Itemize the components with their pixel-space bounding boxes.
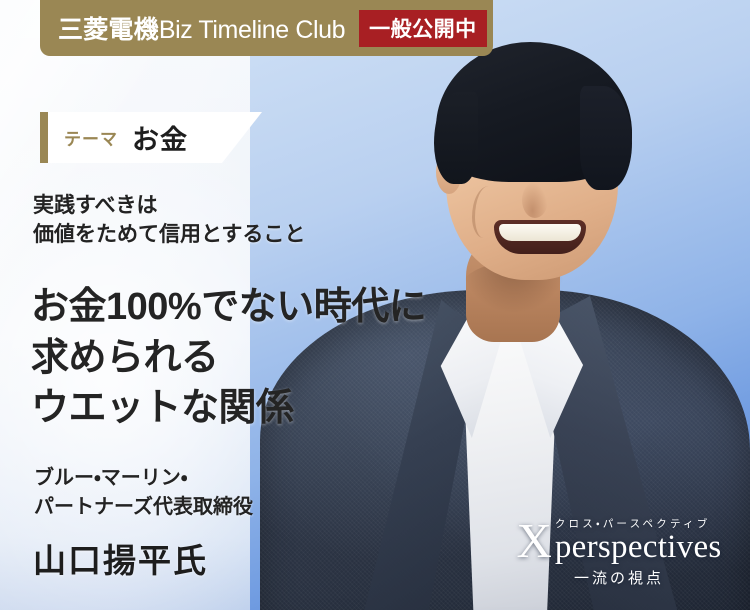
- x-perspectives-logo[interactable]: X クロス・パースペクティブ perspectives 一流の視点: [500, 518, 738, 602]
- theme-accent-bar: [40, 112, 48, 163]
- theme-value: お金: [132, 118, 188, 157]
- logo-main-row: X クロス・パースペクティブ perspectives: [500, 518, 738, 563]
- logo-x-mark: X: [516, 518, 551, 563]
- speaker-role: ブルー・マーリン・ パートナーズ代表取締役: [34, 464, 253, 522]
- theme-label: テーマ: [64, 125, 118, 150]
- headline: お金100%でない時代に 求められる ウエットな関係: [31, 282, 426, 434]
- logo-tagline: 一流の視点: [500, 567, 738, 588]
- hair-side-left: [434, 92, 478, 184]
- speaker-name: 山口揚平氏: [33, 534, 208, 582]
- promo-banner: 三菱電機Biz Timeline Club 一般公開中 テーマ お金 実践すべき…: [0, 0, 750, 610]
- lead-copy: 実践すべきは 価値をためて信用とすること: [33, 192, 305, 250]
- mouth: [494, 220, 586, 254]
- logo-text-stack: クロス・パースペクティブ perspectives: [555, 518, 722, 563]
- nose: [522, 182, 548, 218]
- brand-title: 三菱電機Biz Timeline Club: [58, 10, 345, 46]
- brand-title-en: Biz Timeline Club: [159, 16, 345, 44]
- brand-header-bar[interactable]: 三菱電機Biz Timeline Club 一般公開中: [40, 0, 493, 56]
- teeth: [499, 224, 581, 241]
- brand-title-jp: 三菱電機: [58, 16, 159, 44]
- status-badge: 一般公開中: [359, 10, 487, 47]
- logo-wordmark: perspectives: [555, 532, 722, 563]
